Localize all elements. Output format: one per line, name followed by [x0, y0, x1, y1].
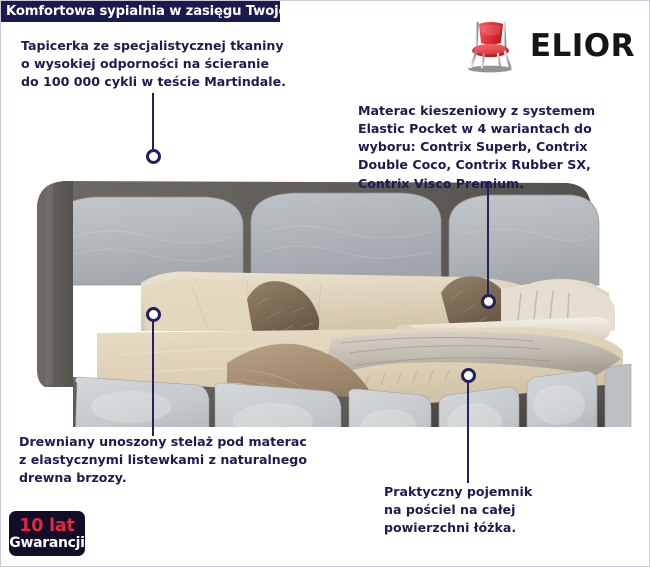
brand-name: ELIOR — [530, 31, 635, 62]
red-chair-icon — [460, 17, 522, 75]
marker-slats[interactable] — [146, 307, 161, 322]
leader-line-storage — [467, 375, 469, 483]
warranty-label: Gwarancji — [9, 536, 84, 551]
callout-storage-text: Praktyczny pojemnik na pościel na całej … — [384, 483, 634, 537]
warranty-badge: 10 lat Gwarancji — [9, 511, 85, 556]
page-title: Komfortowa sypialnia w zasięgu Twojej rę… — [6, 4, 330, 19]
brand-logo: ELIOR — [460, 17, 635, 75]
callout-fabric-text: Tapicerka ze specjalistycznej tkaniny o … — [21, 37, 341, 91]
leader-line-fabric — [152, 93, 154, 156]
leader-line-slats — [152, 314, 154, 436]
marker-mattress[interactable] — [481, 294, 496, 309]
header-banner: Komfortowa sypialnia w zasięgu Twojej rę… — [1, 1, 280, 22]
warranty-years: 10 lat — [19, 518, 74, 536]
infographic-page: Komfortowa sypialnia w zasięgu Twojej rę… — [0, 0, 650, 567]
marker-storage[interactable] — [461, 368, 476, 383]
leader-line-mattress — [487, 181, 489, 301]
callout-slats-text: Drewniany unoszony stelaż pod materac z … — [19, 433, 349, 487]
callout-mattress-text: Materac kieszeniowy z systemem Elastic P… — [358, 102, 648, 193]
marker-fabric[interactable] — [146, 149, 161, 164]
